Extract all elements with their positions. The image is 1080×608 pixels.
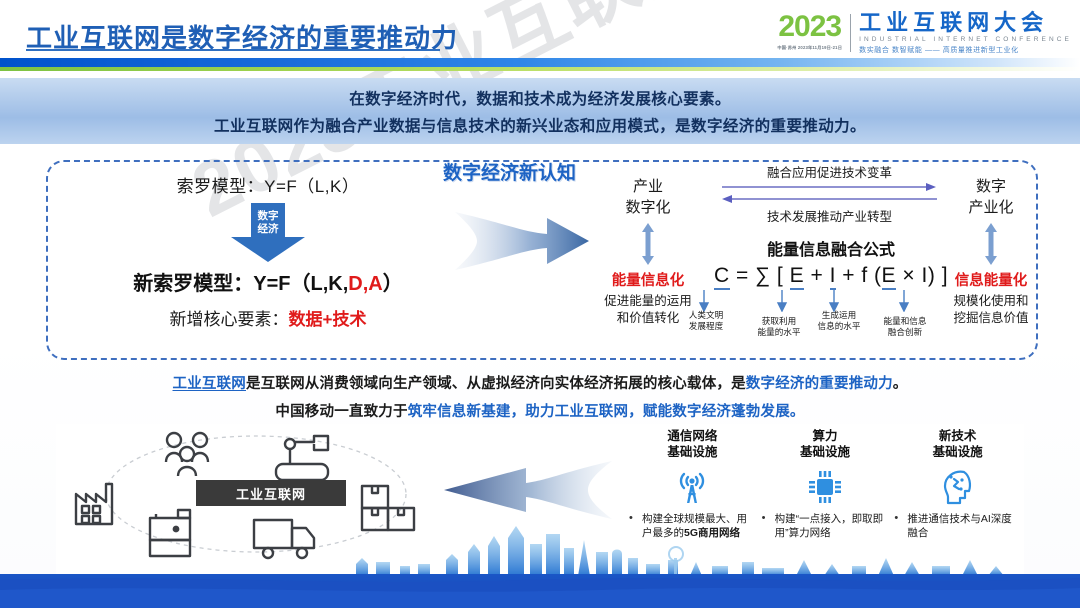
digital-industrialization-group: 数字 产业化 信息能量化 规模化使用和 挖掘信息价值 <box>944 176 1038 327</box>
formula-token-sigma: ∑ <box>755 264 770 287</box>
para-hl-iiot: 工业互联网 <box>173 376 247 392</box>
logo-tagline: 数实融合 数智赋能 —— 高质量推进新型工业化 <box>859 47 1072 54</box>
formula-token-rparen: ) <box>928 264 936 287</box>
annotation-2: 生成运用 信息的水平 <box>810 310 868 332</box>
logo-year-number: 2023 <box>778 10 841 43</box>
formula-token-e1: E <box>790 264 805 290</box>
formula-expression: C = ∑ [ E + I + f (E × I) ] <box>700 264 962 288</box>
card-1-title: 算力 基础设施 <box>759 428 892 460</box>
industry-digital-title: 产业 数字化 <box>596 176 700 218</box>
formula-token-c: C <box>714 264 730 290</box>
funnel-arrow-icon <box>455 210 590 272</box>
arrow-right-icon <box>722 181 937 193</box>
annotation-1-l1: 获取利用 <box>762 316 796 326</box>
information-energization-label: 信息能量化 <box>944 269 1038 290</box>
card-1-body-plain: 构建“一点接入，即取即用”算力网络 <box>775 513 884 539</box>
para-hl-driver: 数字经济的重要推动力 <box>746 376 893 392</box>
annotation-2-l1: 生成运用 <box>822 310 856 320</box>
card-2-icon-wrap <box>891 466 1024 508</box>
infrastructure-cards: 通信网络 基础设施 <box>626 424 1024 576</box>
annotation-2-l2: 信息的水平 <box>818 321 861 331</box>
solow-formula-new: 新索罗模型：Y=F（L,K,D,A） <box>92 267 444 296</box>
title-underline <box>26 49 440 51</box>
card-2-body-plain: 推进通信技术与AI深度融合 <box>907 513 1011 539</box>
formula-annotations: 人类文明 发展程度 获取利用 能量的水平 生成运用 信息的水平 能量和信息 融合… <box>682 308 974 348</box>
wireless-tower-icon <box>672 467 712 507</box>
double-arrow-vertical-icon <box>641 223 655 265</box>
energy-note-l1: 促进能量的运用 <box>604 294 692 308</box>
card-0-body: 构建全球规模最大、用户最多的5G商用网络 <box>626 512 759 540</box>
hub-label: 工业互联网 <box>196 480 346 506</box>
para-l1-mid: 是互联网从消费领域向生产领域、从虚拟经济向实体经济拓展的核心载体，是 <box>246 376 746 392</box>
flow-label-bottom: 技术发展推动产业转型 <box>722 206 937 225</box>
energy-note-l2: 和价值转化 <box>617 311 680 325</box>
industry-digital-title-l2: 数字化 <box>625 199 670 216</box>
logo-name-en: INDUSTRIAL INTERNET CONFERENCE <box>859 37 1072 44</box>
annotation-1-l2: 能量的水平 <box>758 327 801 337</box>
card-new-technology[interactable]: 新技术 基础设施 推进通信技术与AI深度融 <box>891 424 1024 576</box>
cpu-chip-icon <box>805 467 845 507</box>
key-message-banner: 在数字经济时代，数据和技术成为经济发展核心要素。 工业互联网作为融合产业数据与信… <box>0 78 1080 144</box>
card-0-title-l2: 基础设施 <box>667 445 717 459</box>
arrow-label-line1: 数字 <box>258 210 279 222</box>
card-1-title-l2: 基础设施 <box>800 445 850 459</box>
factory-icon <box>76 484 112 524</box>
card-1-body: 构建“一点接入，即取即用”算力网络 <box>759 512 892 540</box>
digital-economy-arrow-wrap: 数字 经济 <box>92 203 444 265</box>
annotation-3-l2: 融合创新 <box>888 327 922 337</box>
formula-token-e2: E <box>882 264 897 290</box>
annotation-3-l1: 能量和信息 <box>884 316 927 326</box>
card-0-title: 通信网络 基础设施 <box>626 428 759 460</box>
para-l1-end: 。 <box>893 376 908 392</box>
solow-new-factors: 新增核心要素：数据+技术 <box>92 305 444 330</box>
big-left-arrow-icon <box>442 460 612 520</box>
logo-text-block: 工业互联网大会 INDUSTRIAL INTERNET CONFERENCE 数… <box>859 12 1072 54</box>
paragraph-line-1: 工业互联网是互联网从消费领域向生产领域、从虚拟经济向实体经济拓展的核心载体，是数… <box>0 372 1080 393</box>
logo-year-subtitle: 中国·苏州 2023年11月19日-21日 <box>777 46 842 50</box>
arrow-label-line2: 经济 <box>258 223 279 235</box>
card-2-title-l1: 新技术 <box>939 429 977 443</box>
footer-wave <box>0 574 1080 608</box>
slide-root: 2023工业互联网大会 工业互联网是数字经济的重要推动力 2023 中国·苏州 … <box>0 0 1080 608</box>
formula-token-plus1: + <box>810 264 823 287</box>
card-2-title: 新技术 基础设施 <box>891 428 1024 460</box>
annotation-0: 人类文明 发展程度 <box>682 310 730 332</box>
solow-formula-old: 索罗模型：Y=F（L,K） <box>92 172 444 197</box>
flow-label-top: 融合应用促进技术变革 <box>722 162 937 181</box>
formula-token-times: × <box>902 264 915 287</box>
header-rule-blue <box>0 58 1080 67</box>
formula-token-plus2: + <box>842 264 855 287</box>
solow-new-prefix: 新索罗模型：Y=F（L,K, <box>133 273 348 295</box>
solow-new-suffix: ） <box>383 273 403 295</box>
footer-band <box>0 574 1080 608</box>
formula-token-f: f <box>861 264 867 287</box>
flow-arrows-group: 融合应用促进技术变革 技术发展推动产业转型 <box>722 162 937 225</box>
boxes-stack-icon <box>362 486 414 530</box>
formula-token-i1: I <box>830 264 836 290</box>
banner-line-1: 在数字经济时代，数据和技术成为经济发展核心要素。 <box>349 87 731 109</box>
energy-informatization-label: 能量信息化 <box>596 269 700 290</box>
conference-logo: 2023 中国·苏州 2023年11月19日-21日 工业互联网大会 INDUS… <box>777 12 1072 54</box>
digital-industry-title-l2: 产业化 <box>968 199 1013 216</box>
solow-new-red: D,A <box>348 273 382 295</box>
banner-line-2: 工业互联网作为融合产业数据与信息技术的新兴业态和应用模式，是数字经济的重要推动力… <box>214 114 866 136</box>
card-0-icon-wrap <box>626 466 759 508</box>
solow-factors-prefix: 新增核心要素： <box>170 310 289 329</box>
formula-token-eq: = <box>736 264 749 287</box>
info-note-l2: 挖掘信息价值 <box>953 311 1028 325</box>
card-computing-power[interactable]: 算力 基础设施 构建“一点接入，即取即用”算力 <box>759 424 892 576</box>
bottom-illustration: 工业互联网 通信网络 基础设施 <box>56 424 1024 576</box>
paragraph-line-2: 中国移动一直致力于筑牢信息新基建，助力工业互联网，赋能数字经济蓬勃发展。 <box>0 400 1080 421</box>
annotation-3: 能量和信息 融合创新 <box>872 316 938 338</box>
card-communication-network[interactable]: 通信网络 基础设施 <box>626 424 759 576</box>
card-2-body: 推进通信技术与AI深度融合 <box>891 512 1024 540</box>
card-1-title-l1: 算力 <box>813 429 838 443</box>
summary-paragraph: 工业互联网是互联网从消费领域向生产领域、从虚拟经济向实体经济拓展的核心载体，是数… <box>0 372 1080 421</box>
header-rule-green <box>0 67 1080 71</box>
card-0-title-l1: 通信网络 <box>667 429 717 443</box>
machine-icon <box>150 510 190 556</box>
solow-model-group: 索罗模型：Y=F（L,K） 数字 经济 新索罗模型：Y=F（L,K,D,A） 新… <box>92 172 444 330</box>
formula-token-lbrack: [ <box>777 264 783 287</box>
logo-year: 2023 中国·苏州 2023年11月19日-21日 <box>777 12 850 50</box>
arrow-label: 数字 经济 <box>258 210 279 236</box>
information-energization-note: 规模化使用和 挖掘信息价值 <box>944 293 1038 327</box>
card-1-icon-wrap <box>759 466 892 508</box>
industry-digitalization-group: 产业 数字化 能量信息化 促进能量的运用 和价值转化 <box>596 176 700 327</box>
logo-name-cn: 工业互联网大会 <box>859 12 1072 34</box>
card-0-body-bold: 5G商用网络 <box>684 527 740 539</box>
industry-digital-title-l1: 产业 <box>633 178 663 195</box>
para-l2-highlight: 筑牢信息新基建，助力工业互联网，赋能数字经济蓬勃发展。 <box>408 404 805 420</box>
digital-industry-title: 数字 产业化 <box>944 176 1038 218</box>
delivery-truck-icon <box>254 520 314 558</box>
robot-arm-icon <box>276 436 328 480</box>
para-l2-prefix: 中国移动一直致力于 <box>275 404 407 420</box>
double-arrow-vertical-icon <box>984 223 998 265</box>
annotation-0-l2: 发展程度 <box>689 321 723 331</box>
formula-title: 能量信息融合公式 <box>722 236 940 260</box>
card-2-title-l2: 基础设施 <box>933 445 983 459</box>
solow-factors-red: 数据+技术 <box>289 310 367 329</box>
ai-brain-head-icon <box>938 467 978 507</box>
arrow-left-icon <box>722 193 937 205</box>
annotation-1: 获取利用 能量的水平 <box>748 316 810 338</box>
digital-industry-title-l1: 数字 <box>976 178 1006 195</box>
info-note-l1: 规模化使用和 <box>953 294 1028 308</box>
annotation-0-l1: 人类文明 <box>689 310 723 320</box>
new-cognition-heading: 数字经济新认知 <box>443 158 576 185</box>
logo-divider <box>850 14 851 52</box>
formula-token-lparen: ( <box>874 264 882 287</box>
